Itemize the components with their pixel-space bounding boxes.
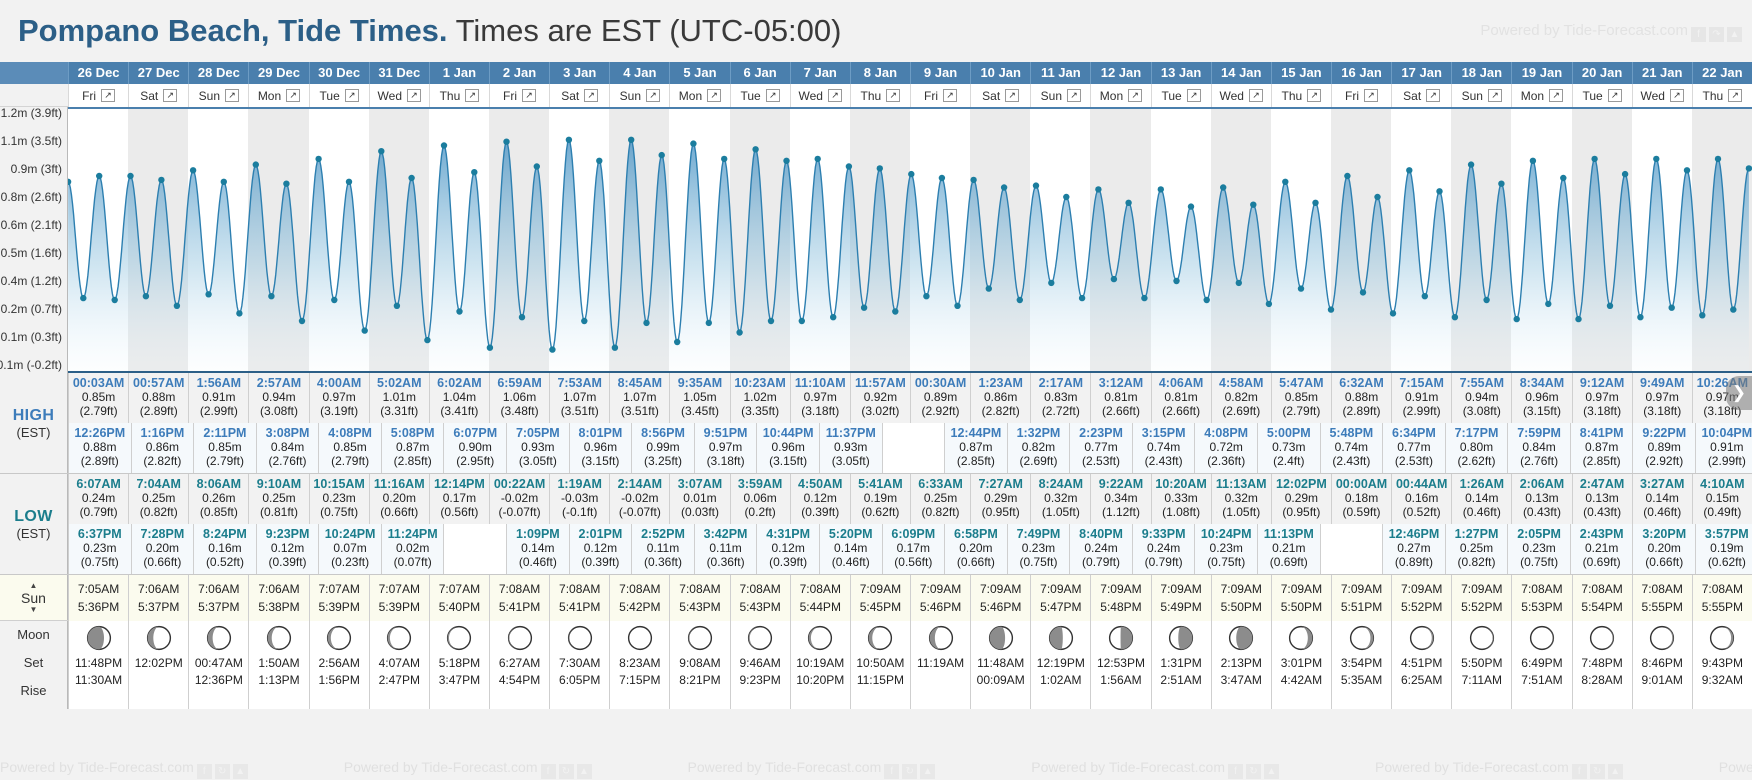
high-tide-meters: 0.84m bbox=[257, 440, 319, 454]
moon-times: 4:51PM6:25AM bbox=[1401, 655, 1442, 689]
footer-social-icon-1[interactable]: f bbox=[1572, 764, 1587, 779]
expand-day-icon[interactable]: ↗ bbox=[943, 89, 957, 102]
weekday-cell[interactable]: Sat↗ bbox=[970, 84, 1030, 107]
low-tide-cell: 7:27AM0.29m(0.95ft) bbox=[970, 474, 1030, 524]
sunrise-time: 7:06AM bbox=[258, 580, 299, 598]
date-header-cell[interactable]: 2 Jan bbox=[489, 62, 549, 84]
sunset-time: 5:55PM bbox=[1702, 598, 1743, 616]
tide-extreme-point bbox=[1328, 306, 1334, 312]
high-tide-feet: (2.36ft) bbox=[1195, 454, 1257, 468]
high-tide-feet: (2.43ft) bbox=[1321, 454, 1383, 468]
high-tide-feet: (2.66ft) bbox=[1152, 404, 1211, 418]
high-tide-meters: 1.07m bbox=[610, 390, 669, 404]
high-tide-cell: 4:08PM0.72m(2.36ft) bbox=[1194, 423, 1257, 473]
y-axis-tick-label: 0.4m (1.2ft) bbox=[1, 274, 62, 288]
moonset-time: 11:19AM bbox=[917, 655, 964, 672]
high-tide-feet: (2.89ft) bbox=[1332, 404, 1391, 418]
low-tide-feet: (0.89ft) bbox=[1383, 555, 1445, 569]
low-tide-cell: 5:20PM0.14m(0.46ft) bbox=[819, 524, 882, 574]
footer-social-icon-2[interactable]: ↻ bbox=[215, 764, 230, 779]
moonrise-time: 7:51AM bbox=[1521, 672, 1562, 689]
tide-extreme-point bbox=[205, 291, 211, 297]
tide-extreme-point bbox=[1063, 194, 1069, 200]
high-tide-cell: 6:32AM0.88m(2.89ft) bbox=[1331, 373, 1391, 423]
expand-day-icon[interactable]: ↗ bbox=[1426, 89, 1440, 102]
high-tide-time: 2:11PM bbox=[194, 426, 256, 440]
footer-social-icon-1[interactable]: f bbox=[197, 764, 212, 779]
moon-phase-icon bbox=[1649, 625, 1675, 651]
low-tide-feet: (0.85ft) bbox=[189, 505, 248, 519]
high-tide-feet: (2.53ft) bbox=[1070, 454, 1132, 468]
moon-cell: 11:19AM bbox=[910, 621, 970, 709]
low-tide-time: 10:20AM bbox=[1152, 477, 1211, 491]
date-header-cell[interactable]: 16 Jan bbox=[1331, 62, 1391, 84]
weekday-cell[interactable]: Wed↗ bbox=[790, 84, 850, 107]
watermark-top: Powered by Tide-Forecast.comf↷▲ bbox=[1480, 22, 1742, 42]
expand-day-icon[interactable]: ↗ bbox=[1488, 89, 1502, 102]
tide-extreme-point bbox=[783, 158, 789, 164]
high-tide-meters: 0.93m bbox=[507, 440, 569, 454]
low-tide-feet: (0.39ft) bbox=[257, 555, 319, 569]
date-header-cell[interactable]: 22 Jan bbox=[1692, 62, 1752, 84]
low-tide-time: 10:24PM bbox=[319, 527, 381, 541]
expand-day-icon[interactable]: ↗ bbox=[766, 89, 780, 102]
weekday-cell[interactable]: Sun↗ bbox=[1451, 84, 1511, 107]
high-tide-cell: 4:08PM0.85m(2.79ft) bbox=[318, 423, 381, 473]
expand-day-icon[interactable]: ↗ bbox=[646, 89, 660, 102]
sun-cell: 7:09AM5:48PM bbox=[1090, 575, 1150, 621]
tide-extreme-point bbox=[1545, 301, 1551, 307]
date-header-cell[interactable]: 26 Dec bbox=[68, 62, 128, 84]
footer-social-icon-2[interactable]: ↻ bbox=[559, 764, 574, 779]
next-page-button[interactable]: ❯ bbox=[1726, 376, 1752, 410]
sun-cell: 7:09AM5:50PM bbox=[1211, 575, 1271, 621]
date-header-cell[interactable]: 11 Jan bbox=[1030, 62, 1090, 84]
moonset-time: 8:23AM bbox=[619, 655, 660, 672]
high-tide-time: 4:08PM bbox=[319, 426, 381, 440]
moon-cell: 4:07AM2:47PM bbox=[369, 621, 429, 709]
sunset-time: 5:46PM bbox=[980, 598, 1021, 616]
moon-phase-icon bbox=[1288, 625, 1314, 651]
weekday-cell[interactable]: Mon↗ bbox=[1090, 84, 1150, 107]
weekday-cell[interactable]: Sat↗ bbox=[1391, 84, 1451, 107]
moonrise-time: 12:36PM bbox=[195, 672, 243, 689]
high-tide-feet: (2.82ft) bbox=[971, 404, 1030, 418]
high-tide-cell: 9:35AM1.05m(3.45ft) bbox=[669, 373, 729, 423]
moon-cell: 4:51PM6:25AM bbox=[1391, 621, 1451, 709]
low-tide-time: 3:57PM bbox=[1696, 527, 1752, 541]
high-tide-feet: (2.85ft) bbox=[382, 454, 444, 468]
low-tide-feet: (0.81ft) bbox=[249, 505, 308, 519]
low-tide-time: 3:27AM bbox=[1633, 477, 1692, 491]
high-tide-meters: 0.96m bbox=[570, 440, 632, 454]
social-icon-3[interactable]: ▲ bbox=[1727, 27, 1742, 42]
weekday-cell[interactable]: Thu↗ bbox=[850, 84, 910, 107]
low-tide-time: 3:59AM bbox=[731, 477, 790, 491]
weekday-label: Sat bbox=[1403, 89, 1421, 103]
sun-cell: 7:08AM5:42PM bbox=[609, 575, 669, 621]
low-tide-time: 2:52PM bbox=[632, 527, 694, 541]
footer-watermark-text: Powered by Tide-Forecast.com bbox=[344, 759, 538, 775]
weekday-cell[interactable]: Sat↗ bbox=[549, 84, 609, 107]
low-tide-meters: 0.20m bbox=[945, 541, 1007, 555]
tide-extreme-point bbox=[394, 303, 400, 309]
tide-extreme-point bbox=[112, 297, 118, 303]
moon-cell: 3:54PM5:35AM bbox=[1331, 621, 1391, 709]
date-header-cell[interactable]: 4 Jan bbox=[609, 62, 669, 84]
weekday-cell[interactable]: Thu↗ bbox=[1692, 84, 1752, 107]
footer-social-icon-2[interactable]: ↻ bbox=[902, 764, 917, 779]
tide-extreme-point bbox=[1699, 312, 1705, 318]
high-tide-cell: 6:02AM1.04m(3.41ft) bbox=[429, 373, 489, 423]
tide-extreme-point bbox=[643, 320, 649, 326]
sunrise-time: 7:09AM bbox=[1281, 580, 1322, 598]
tide-extreme-point bbox=[315, 156, 321, 162]
date-header-cell[interactable]: 18 Jan bbox=[1451, 62, 1511, 84]
expand-day-icon[interactable]: ↗ bbox=[1670, 89, 1684, 102]
expand-day-icon[interactable]: ↗ bbox=[886, 89, 900, 102]
tide-extreme-point bbox=[408, 175, 414, 181]
high-tide-block: HIGH (EST) 00:03AM0.85m(2.79ft)00:57AM0.… bbox=[0, 373, 1752, 474]
low-tide-meters: 0.21m bbox=[1571, 541, 1633, 555]
expand-day-icon[interactable]: ↗ bbox=[1364, 89, 1378, 102]
low-tide-meters: 0.11m bbox=[695, 541, 757, 555]
weekday-cell[interactable]: Mon↗ bbox=[1511, 84, 1571, 107]
low-tide-feet: (0.62ft) bbox=[1696, 555, 1752, 569]
high-tide-feet: (3.15ft) bbox=[757, 454, 819, 468]
moon-times: 12:02PM bbox=[135, 655, 183, 672]
y-axis-tick-label: 1.2m (3.9ft) bbox=[1, 106, 62, 120]
high-tide-meters: 1.02m bbox=[731, 390, 790, 404]
high-tide-time: 3:08PM bbox=[257, 426, 319, 440]
high-tide-time: 7:59PM bbox=[1508, 426, 1570, 440]
expand-day-icon[interactable]: ↗ bbox=[345, 89, 359, 102]
high-tide-meters: 0.88m bbox=[129, 390, 188, 404]
high-tide-cell: 1:56AM0.91m(2.99ft) bbox=[188, 373, 248, 423]
weekday-cell[interactable]: Sun↗ bbox=[188, 84, 248, 107]
moon-times: 9:46AM9:23PM bbox=[739, 655, 780, 689]
low-tide-feet: (0.23ft) bbox=[319, 555, 381, 569]
footer-social-icon-3[interactable]: ▲ bbox=[233, 764, 248, 779]
moonrise-time: 10:20PM bbox=[796, 672, 844, 689]
date-header-cell[interactable]: 7 Jan bbox=[790, 62, 850, 84]
high-tide-meters: 0.89m bbox=[911, 390, 970, 404]
date-header-cell[interactable]: 20 Jan bbox=[1572, 62, 1632, 84]
moon-times: 9:08AM8:21PM bbox=[679, 655, 720, 689]
high-tide-time: 10:04PM bbox=[1696, 426, 1752, 440]
expand-day-icon[interactable]: ↗ bbox=[1005, 89, 1019, 102]
tide-extreme-point bbox=[752, 146, 758, 152]
date-header-cell[interactable]: 8 Jan bbox=[850, 62, 910, 84]
weekday-cell[interactable]: Fri↗ bbox=[489, 84, 549, 107]
weekday-cell[interactable]: Tue↗ bbox=[1151, 84, 1211, 107]
weekday-cell[interactable]: Mon↗ bbox=[248, 84, 308, 107]
low-tide-label-tz: (EST) bbox=[17, 526, 51, 541]
expand-day-icon[interactable]: ↗ bbox=[1728, 89, 1742, 102]
tide-extreme-point bbox=[1125, 200, 1131, 206]
footer-social-icon-3[interactable]: ▲ bbox=[920, 764, 935, 779]
moon-phase-icon bbox=[687, 625, 713, 651]
tide-extreme-point bbox=[1684, 167, 1690, 173]
sunrise-time: 7:08AM bbox=[1702, 580, 1743, 598]
date-header-cell[interactable]: 3 Jan bbox=[549, 62, 609, 84]
weekday-cell[interactable]: Wed↗ bbox=[369, 84, 429, 107]
low-tide-cell: 9:10AM0.25m(0.81ft) bbox=[248, 474, 308, 524]
moon-times: 9:43PM9:32AM bbox=[1702, 655, 1743, 689]
low-tide-cell: 5:41AM0.19m(0.62ft) bbox=[850, 474, 910, 524]
date-header-cell[interactable]: 5 Jan bbox=[669, 62, 729, 84]
expand-day-icon[interactable]: ↗ bbox=[225, 89, 239, 102]
low-tide-cell: 1:09PM0.14m(0.46ft) bbox=[506, 524, 569, 574]
moon-times: 12:19PM1:02AM bbox=[1037, 655, 1085, 689]
sunrise-time: 7:07AM bbox=[318, 580, 359, 598]
moon-phase-icon bbox=[386, 625, 412, 651]
low-tide-cell: 4:50AM0.12m(0.39ft) bbox=[790, 474, 850, 524]
footer-social-icon-3[interactable]: ▲ bbox=[1608, 764, 1623, 779]
weekday-cell[interactable]: Thu↗ bbox=[1271, 84, 1331, 107]
high-tide-cell: 00:03AM0.85m(2.79ft) bbox=[68, 373, 128, 423]
weekday-cell[interactable]: Tue↗ bbox=[1572, 84, 1632, 107]
date-header-cell[interactable]: 12 Jan bbox=[1090, 62, 1150, 84]
tide-extreme-point bbox=[706, 320, 712, 326]
expand-day-icon[interactable]: ↗ bbox=[101, 89, 115, 102]
moon-phase-icon bbox=[1529, 625, 1555, 651]
tide-extreme-point bbox=[861, 305, 867, 311]
weekday-cell[interactable]: Mon↗ bbox=[669, 84, 729, 107]
date-header-cell[interactable]: 17 Jan bbox=[1391, 62, 1451, 84]
footer-social-icon-1[interactable]: f bbox=[884, 764, 899, 779]
sunset-time: 5:54PM bbox=[1581, 598, 1622, 616]
footer-social-icon-2[interactable]: ↻ bbox=[1246, 764, 1261, 779]
high-tide-feet: (2.66ft) bbox=[1091, 404, 1150, 418]
date-header-cell[interactable]: 13 Jan bbox=[1151, 62, 1211, 84]
moon-times: 2:56AM1:56PM bbox=[318, 655, 359, 689]
date-header-spacer bbox=[0, 62, 68, 84]
tide-extreme-point bbox=[1483, 297, 1489, 303]
sun-cell: 7:09AM5:45PM bbox=[850, 575, 910, 621]
expand-day-icon[interactable]: ↗ bbox=[1187, 89, 1201, 102]
low-tide-cell: 4:10AM0.15m(0.49ft) bbox=[1692, 474, 1752, 524]
sunrise-time: 7:08AM bbox=[739, 580, 780, 598]
date-header-cell[interactable]: 29 Dec bbox=[248, 62, 308, 84]
high-tide-feet: (2.69ft) bbox=[1008, 454, 1070, 468]
footer-watermark: Powered by Tide-Forecast.comf↻▲ bbox=[688, 759, 1032, 779]
moonset-time: 5:50PM bbox=[1461, 655, 1502, 672]
high-tide-time: 9:51PM bbox=[695, 426, 757, 440]
date-header-cell[interactable]: 9 Jan bbox=[910, 62, 970, 84]
high-tide-meters: 0.77m bbox=[1070, 440, 1132, 454]
date-header-cell[interactable]: 6 Jan bbox=[730, 62, 790, 84]
tide-extreme-point bbox=[1266, 301, 1272, 307]
weekday-label: Tue bbox=[1582, 89, 1602, 103]
date-header-cell[interactable]: 27 Dec bbox=[128, 62, 188, 84]
tide-extreme-point bbox=[674, 339, 680, 345]
date-header-cell[interactable]: 31 Dec bbox=[369, 62, 429, 84]
expand-day-icon[interactable]: ↗ bbox=[286, 89, 300, 102]
tide-extreme-point bbox=[346, 179, 352, 185]
low-tide-feet: (-0.07ft) bbox=[610, 505, 669, 519]
high-tide-feet: (3.51ft) bbox=[550, 404, 609, 418]
expand-day-icon[interactable]: ↗ bbox=[163, 89, 177, 102]
date-header-cell[interactable]: 14 Jan bbox=[1211, 62, 1271, 84]
moon-times: 10:50AM11:15PM bbox=[856, 655, 904, 689]
weekday-cell[interactable]: Sun↗ bbox=[1030, 84, 1090, 107]
weekday-cell[interactable]: Wed↗ bbox=[1632, 84, 1692, 107]
expand-day-icon[interactable]: ↗ bbox=[1549, 89, 1563, 102]
high-tide-feet: (2.79ft) bbox=[69, 404, 128, 418]
sunset-time: 5:43PM bbox=[679, 598, 720, 616]
sun-cell: 7:09AM5:52PM bbox=[1391, 575, 1451, 621]
moon-times: 11:48PM11:30AM bbox=[75, 655, 122, 689]
date-header-cell[interactable]: 10 Jan bbox=[970, 62, 1030, 84]
moon-times: 00:47AM12:36PM bbox=[195, 655, 243, 689]
date-header-cell[interactable]: 30 Dec bbox=[309, 62, 369, 84]
low-tide-time: 12:02PM bbox=[1272, 477, 1331, 491]
weekday-cell[interactable]: Thu↗ bbox=[429, 84, 489, 107]
footer-watermark-text: Powered by Tide-Forecast.com bbox=[1375, 759, 1569, 775]
tide-extreme-point bbox=[1298, 285, 1304, 291]
low-tide-feet: (0.95ft) bbox=[971, 505, 1030, 519]
weekday-label: Fri bbox=[82, 89, 96, 103]
moon-cell: 8:23AM7:15PM bbox=[609, 621, 669, 709]
footer-social-icon-2[interactable]: ↻ bbox=[1590, 764, 1605, 779]
low-tide-cell: 10:15AM0.23m(0.75ft) bbox=[309, 474, 369, 524]
low-tide-meters: 0.32m bbox=[1031, 491, 1090, 505]
moonset-time: 10:19AM bbox=[796, 655, 844, 672]
expand-day-icon[interactable]: ↗ bbox=[584, 89, 598, 102]
sunrise-time: 7:08AM bbox=[1521, 580, 1562, 598]
high-tide-meters: 0.72m bbox=[1195, 440, 1257, 454]
moonrise-time: 2:51AM bbox=[1160, 672, 1201, 689]
weekday-cell[interactable]: Sun↗ bbox=[609, 84, 669, 107]
footer-social-icon-3[interactable]: ▲ bbox=[1264, 764, 1279, 779]
weekday-cell[interactable]: Fri↗ bbox=[68, 84, 128, 107]
expand-day-icon[interactable]: ↗ bbox=[1128, 89, 1142, 102]
sunrise-time: 7:09AM bbox=[980, 580, 1021, 598]
low-tide-meters: 0.25m bbox=[1446, 541, 1508, 555]
tide-extreme-point bbox=[331, 297, 337, 303]
high-tide-cell: 1:32PM0.82m(2.69ft) bbox=[1007, 423, 1070, 473]
tide-extreme-point bbox=[362, 327, 368, 333]
date-header-cell[interactable]: 1 Jan bbox=[429, 62, 489, 84]
moon-phase-icon bbox=[867, 625, 893, 651]
low-tide-feet: (0.66ft) bbox=[132, 555, 194, 569]
low-tide-time: 10:24PM bbox=[1195, 527, 1257, 541]
moon-times: 8:46PM9:01AM bbox=[1642, 655, 1683, 689]
low-tide-time: 7:04AM bbox=[129, 477, 188, 491]
expand-day-icon[interactable]: ↗ bbox=[1608, 89, 1622, 102]
tide-extreme-point bbox=[268, 293, 274, 299]
low-tide-meters: -0.03m bbox=[550, 491, 609, 505]
tide-extreme-point bbox=[690, 140, 696, 146]
date-header-cell[interactable]: 15 Jan bbox=[1271, 62, 1331, 84]
tide-extreme-point bbox=[1575, 316, 1581, 322]
high-tide-meters: 0.74m bbox=[1321, 440, 1383, 454]
weekday-cell[interactable]: Tue↗ bbox=[309, 84, 369, 107]
moonrise-time: 6:25AM bbox=[1401, 672, 1442, 689]
sunrise-time: 7:08AM bbox=[1642, 580, 1683, 598]
moonset-time: 9:46AM bbox=[739, 655, 780, 672]
high-tide-time: 6:32AM bbox=[1332, 376, 1391, 390]
moon-cell: 3:01PM4:42AM bbox=[1271, 621, 1331, 709]
expand-day-icon[interactable]: ↗ bbox=[1067, 89, 1081, 102]
high-tide-meters: 0.92m bbox=[851, 390, 910, 404]
high-tide-meters: 0.97m bbox=[695, 440, 757, 454]
weekday-cell[interactable]: Fri↗ bbox=[910, 84, 970, 107]
date-header-cell[interactable]: 28 Dec bbox=[188, 62, 248, 84]
tide-extreme-point bbox=[236, 310, 242, 316]
sun-cell: 7:09AM5:49PM bbox=[1151, 575, 1211, 621]
date-header-cell[interactable]: 21 Jan bbox=[1632, 62, 1692, 84]
moon-phase-icon bbox=[1048, 625, 1074, 651]
low-tide-feet: (0.66ft) bbox=[370, 505, 429, 519]
high-tide-cell: 11:10AM0.97m(3.18ft) bbox=[790, 373, 850, 423]
expand-day-icon[interactable]: ↗ bbox=[1249, 89, 1263, 102]
tide-chart-plot[interactable] bbox=[68, 107, 1752, 373]
weekday-cell[interactable]: Sat↗ bbox=[128, 84, 188, 107]
high-tide-cell: 3:12AM0.81m(2.66ft) bbox=[1090, 373, 1150, 423]
footer-social-icon-3[interactable]: ▲ bbox=[577, 764, 592, 779]
low-tide-feet: (1.05ft) bbox=[1212, 505, 1271, 519]
high-tide-time: 7:55AM bbox=[1452, 376, 1511, 390]
social-icon-2[interactable]: ↷ bbox=[1709, 27, 1724, 42]
high-tide-feet: (3.05ft) bbox=[820, 454, 882, 468]
tide-extreme-point bbox=[1173, 278, 1179, 284]
social-icon-1[interactable]: f bbox=[1691, 27, 1706, 42]
weekday-cell[interactable]: Wed↗ bbox=[1211, 84, 1271, 107]
tide-extreme-point bbox=[877, 165, 883, 171]
low-tide-feet: (0.82ft) bbox=[1446, 555, 1508, 569]
sunrise-time: 7:06AM bbox=[138, 580, 179, 598]
low-tide-feet: (0.39ft) bbox=[791, 505, 850, 519]
footer-watermark-text: Powered by Tide-Forecast.com bbox=[0, 759, 194, 775]
high-tide-time: 8:34AM bbox=[1512, 376, 1571, 390]
weekday-label: Thu bbox=[1282, 89, 1303, 103]
low-tide-time: 4:50AM bbox=[791, 477, 850, 491]
low-tide-time: 3:20PM bbox=[1633, 527, 1695, 541]
expand-day-icon[interactable]: ↗ bbox=[522, 89, 536, 102]
sunset-time: 5:41PM bbox=[559, 598, 600, 616]
footer-social-icon-1[interactable]: f bbox=[1228, 764, 1243, 779]
expand-day-icon[interactable]: ↗ bbox=[465, 89, 479, 102]
moon-phase-icon bbox=[446, 625, 472, 651]
expand-day-icon[interactable]: ↗ bbox=[1307, 89, 1321, 102]
expand-day-icon[interactable]: ↗ bbox=[828, 89, 842, 102]
moonset-time: 2:13PM bbox=[1221, 655, 1262, 672]
date-header-cell[interactable]: 19 Jan bbox=[1511, 62, 1571, 84]
high-tide-cell: 2:17AM0.83m(2.72ft) bbox=[1030, 373, 1090, 423]
moon-phase-lit-area bbox=[1120, 627, 1132, 650]
high-tide-cell: 5:08PM0.87m(2.85ft) bbox=[381, 423, 444, 473]
high-tide-feet: (3.08ft) bbox=[1452, 404, 1511, 418]
low-tide-time: 11:16AM bbox=[370, 477, 429, 491]
expand-day-icon[interactable]: ↗ bbox=[707, 89, 721, 102]
expand-day-icon[interactable]: ↗ bbox=[407, 89, 421, 102]
moonrise-time: 7:11AM bbox=[1461, 672, 1502, 689]
high-tide-cell: 10:23AM1.02m(3.35ft) bbox=[730, 373, 790, 423]
footer-social-icon-1[interactable]: f bbox=[541, 764, 556, 779]
low-tide-meters: 0.24m bbox=[1070, 541, 1132, 555]
weekday-label: Sat bbox=[982, 89, 1000, 103]
low-tide-feet: (0.75ft) bbox=[69, 555, 131, 569]
weekday-cell[interactable]: Fri↗ bbox=[1331, 84, 1391, 107]
weekday-cell[interactable]: Tue↗ bbox=[730, 84, 790, 107]
low-tide-meters: 0.33m bbox=[1152, 491, 1211, 505]
high-tide-meters: 0.97m bbox=[310, 390, 369, 404]
tide-extreme-point bbox=[721, 156, 727, 162]
low-tide-meters: 0.12m bbox=[570, 541, 632, 555]
high-tide-meters: 0.91m bbox=[1696, 440, 1752, 454]
